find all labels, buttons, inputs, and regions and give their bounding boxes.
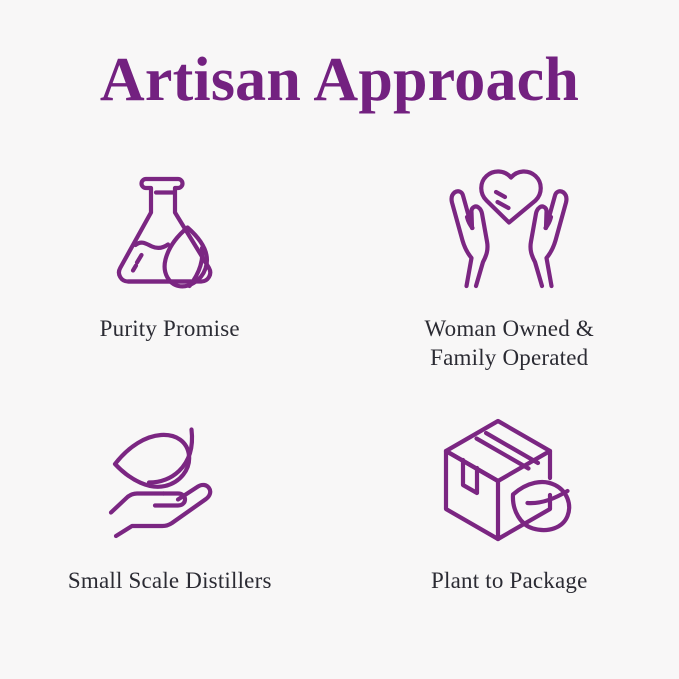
feature-label: Woman Owned & Family Operated [425,314,594,372]
feature-item-purity-promise: Purity Promise [0,150,340,400]
feature-item-woman-owned: Woman Owned & Family Operated [340,150,679,400]
feature-item-small-scale-distillers: Small Scale Distillers [0,400,340,650]
flask-leaf-icon [95,162,245,294]
feature-label: Small Scale Distillers [68,566,272,595]
hand-leaf-icon [95,422,245,540]
features-grid: Purity Promise [0,150,679,650]
page-title: Artisan Approach [0,44,679,116]
feature-item-plant-to-package: Plant to Package [340,400,679,650]
artisan-approach-graphic: Artisan Approach [0,0,679,679]
feature-label: Purity Promise [100,314,240,343]
hands-heart-icon [434,162,584,294]
box-leaf-icon [434,422,584,540]
feature-label: Plant to Package [431,566,588,595]
